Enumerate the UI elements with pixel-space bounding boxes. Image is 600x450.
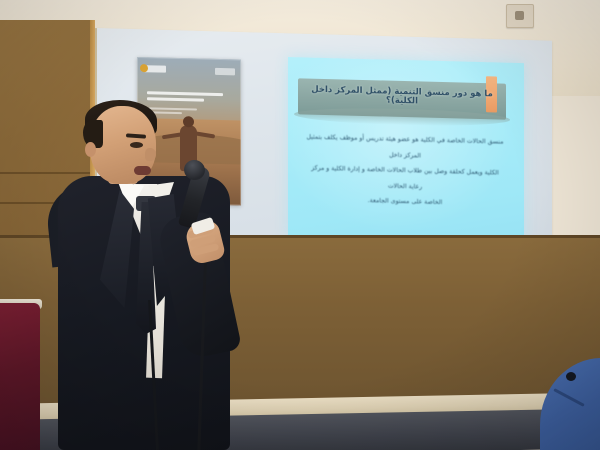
projected-slide: ما هو دور منسق التنمية (ممثل المركز داخل… — [288, 57, 524, 245]
presenter — [52, 98, 232, 450]
shirt-fold — [553, 388, 584, 407]
wall-socket-icon — [506, 4, 534, 28]
presentation-photo: ما هو دور منسق التنمية (ممثل المركز داخل… — [0, 0, 600, 450]
presenter-ear — [85, 142, 96, 157]
presenter-mouth — [134, 166, 151, 175]
audience-member-detail — [566, 372, 576, 381]
slide-body-line: الكلية ويعمل كحلقة وصل بين طلاب الحالات … — [306, 160, 504, 196]
socket-hole — [515, 11, 524, 20]
slide-body-line: منسق الحالات الخاصة في الكلية هو عضو هيئ… — [306, 129, 504, 165]
presenter-eye — [130, 142, 143, 148]
table-cloth — [0, 303, 40, 450]
presenter-nose — [145, 148, 156, 161]
slide-body-text: منسق الحالات الخاصة في الكلية هو عضو هيئ… — [306, 129, 504, 212]
